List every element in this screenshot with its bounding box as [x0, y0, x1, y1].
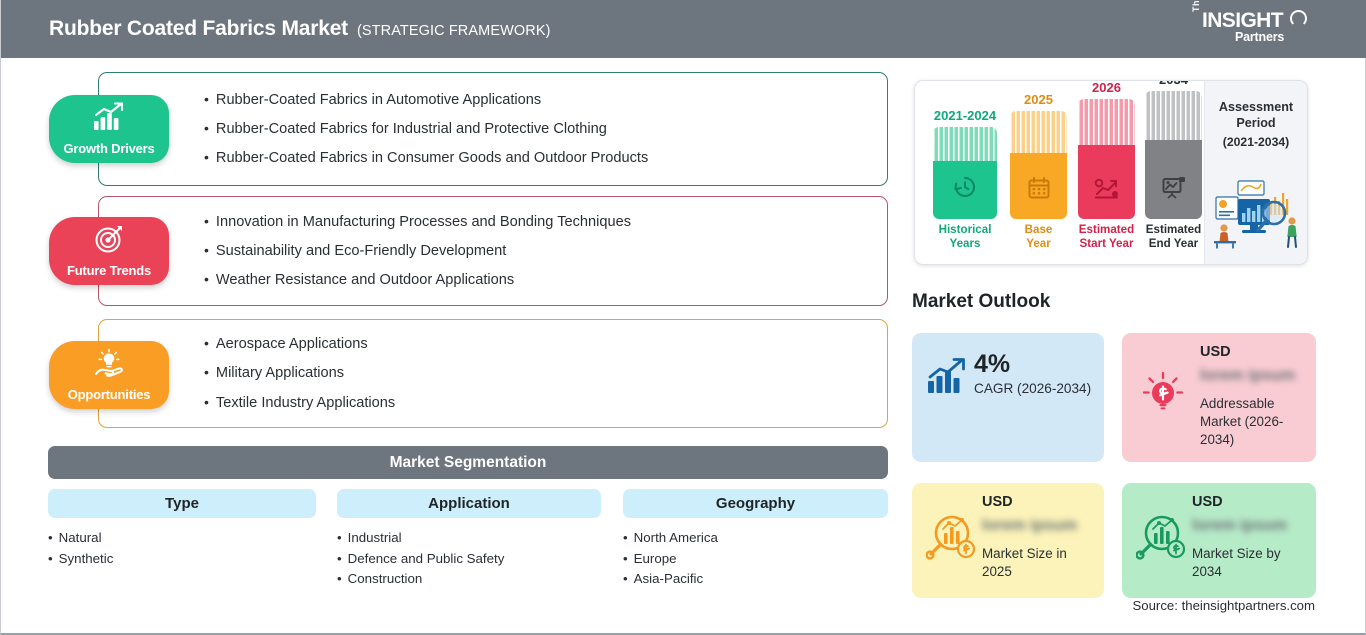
blurred-value: lorem ipsum — [982, 517, 1077, 535]
timeline-bar-striped-top — [1010, 111, 1067, 153]
hand-lightbulb-icon — [92, 348, 126, 383]
outlook-card-addressable-market: USD lorem ipsum Addressable Market (2026… — [1122, 333, 1316, 462]
outlook-card-market-size-2034: USD lorem ipsum Market Size by 2034 — [1122, 483, 1316, 598]
bullet-item: Weather Resistance and Outdoor Applicati… — [204, 272, 631, 288]
badge-label: Opportunities — [68, 387, 151, 402]
business-analytics-illustration — [1208, 173, 1305, 256]
segmentation-item-list: Industrial Defence and Public Safety Con… — [337, 528, 601, 590]
timeline-caption-line2: Year — [1026, 237, 1051, 250]
page-title: Rubber Coated Fabrics Market — [49, 17, 348, 41]
infographic-page: Rubber Coated Fabrics Market (STRATEGIC … — [0, 0, 1366, 635]
segmentation-column-title: Type — [165, 495, 199, 512]
badge-label: Future Trends — [67, 263, 151, 278]
currency-label: USD — [1200, 344, 1231, 360]
assessment-period-panel: Assessment Period (2021-2034) — [1204, 81, 1307, 264]
growth-bar-chart-icon — [926, 357, 968, 400]
timeline-caption-line1: Base — [1025, 223, 1053, 236]
segmentation-pill[interactable]: Application — [337, 489, 601, 518]
currency-label: USD — [1192, 494, 1223, 510]
timeline-bar-striped-top — [1145, 91, 1202, 140]
segmentation-item: Natural — [48, 528, 316, 549]
card-description: Market Size by 2034 — [1192, 545, 1304, 581]
blurred-value: lorem ipsum — [1200, 367, 1295, 385]
source-attribution: Source: theinsightpartners.com — [1132, 598, 1315, 613]
badge-future-trends[interactable]: Future Trends — [49, 217, 169, 285]
header-title-group: Rubber Coated Fabrics Market (STRATEGIC … — [49, 17, 551, 41]
bullet-item: Rubber-Coated Fabrics in Consumer Goods … — [204, 150, 648, 166]
insight-partners-logo: The INSIGHT Partners — [1191, 9, 1311, 51]
page-header: Rubber Coated Fabrics Market (STRATEGIC … — [1, 0, 1366, 58]
timeline-caption: Estimated End Year — [1146, 223, 1201, 250]
card-description: Market Size in 2025 — [982, 545, 1092, 581]
segmentation-item: Industrial — [337, 528, 601, 549]
panel-growth-drivers: Rubber-Coated Fabrics in Automotive Appl… — [98, 72, 888, 186]
bullet-item: Innovation in Manufacturing Processes an… — [204, 214, 631, 230]
segmentation-item: Synthetic — [48, 549, 316, 570]
bullet-item: Rubber-Coated Fabrics in Automotive Appl… — [204, 92, 648, 108]
segmentation-column-title: Geography — [716, 495, 795, 512]
timeline-bar — [1145, 91, 1202, 219]
bullet-item: Rubber-Coated Fabrics for Industrial and… — [204, 121, 648, 137]
cagr-description: CAGR (2026-2034) — [974, 381, 1091, 396]
timeline-bar-striped-top — [933, 127, 997, 161]
market-outlook-title: Market Outlook — [912, 291, 1050, 313]
magnifier-chart-dollar-icon — [1136, 511, 1190, 570]
timeline-caption-line1: Historical — [939, 223, 992, 236]
timeline-caption-line2: End Year — [1149, 237, 1198, 250]
timeline-caption-line2: Years — [950, 237, 981, 250]
outlook-card-market-size-2025: USD lorem ipsum Market Size in 2025 — [912, 483, 1104, 598]
forecast-chart-icon — [1094, 176, 1120, 205]
segmentation-pill[interactable]: Type — [48, 489, 316, 518]
badge-opportunities[interactable]: Opportunities — [49, 341, 169, 409]
bar-chart-arrow-icon — [92, 102, 126, 137]
panel-bullet-list: Aerospace Applications Military Applicat… — [204, 320, 395, 427]
panel-bullet-list: Rubber-Coated Fabrics in Automotive Appl… — [204, 73, 648, 185]
timeline-bar — [933, 127, 997, 219]
segmentation-item: Construction — [337, 569, 601, 590]
badge-growth-drivers[interactable]: Growth Drivers — [49, 95, 169, 163]
timeline-year-label: 2026 — [1092, 80, 1121, 95]
currency-label: USD — [982, 494, 1013, 510]
timeline-caption-line1: Estimated — [1079, 223, 1134, 236]
logo-partners-text: Partners — [1235, 30, 1284, 44]
bullet-item: Aerospace Applications — [204, 336, 395, 352]
assessment-period-line3: (2021-2034) — [1205, 135, 1307, 149]
segmentation-item: Europe — [623, 549, 888, 570]
segmentation-item: Defence and Public Safety — [337, 549, 601, 570]
segmentation-item-list: North America Europe Asia-Pacific — [623, 528, 888, 590]
magnifier-chart-dollar-icon — [926, 511, 980, 570]
badge-label: Growth Drivers — [63, 141, 154, 156]
blurred-value: lorem ipsum — [1192, 517, 1287, 535]
timeline-caption-line1: Estimated — [1146, 223, 1201, 236]
timeline-year-label: 2021-2024 — [934, 108, 996, 123]
assessment-period-line2: Period — [1205, 116, 1307, 130]
logo-the-text: The — [1191, 0, 1201, 12]
timeline-caption: Base Year — [1025, 223, 1053, 250]
bullet-item: Textile Industry Applications — [204, 395, 395, 411]
timeline-year-label: 2025 — [1024, 92, 1053, 107]
timeline-year-label: 2034 — [1159, 80, 1188, 87]
segmentation-pill[interactable]: Geography — [623, 489, 888, 518]
page-subtitle: (STRATEGIC FRAMEWORK) — [357, 23, 551, 39]
segmentation-item: Asia-Pacific — [623, 569, 888, 590]
clock-history-icon — [952, 174, 978, 205]
logo-ring-icon — [1290, 10, 1307, 27]
segmentation-item: North America — [623, 528, 888, 549]
timeline-caption: Estimated Start Year — [1079, 223, 1134, 250]
outlook-card-cagr: 4% CAGR (2026-2034) — [912, 333, 1104, 462]
panel-bullet-list: Innovation in Manufacturing Processes an… — [204, 197, 631, 305]
segmentation-column-type: Type Natural Synthetic — [48, 489, 316, 569]
lightbulb-dollar-icon — [1140, 369, 1186, 420]
panel-opportunities: Aerospace Applications Military Applicat… — [98, 319, 888, 428]
assessment-timeline-card: 2021-2024 Historical Years 2025 — [914, 80, 1308, 265]
timeline-caption-line2: Start Year — [1080, 237, 1134, 250]
segmentation-column-title: Application — [428, 495, 510, 512]
segmentation-column-application: Application Industrial Defence and Publi… — [337, 489, 601, 590]
card-description: Addressable Market (2026-2034) — [1200, 395, 1306, 449]
bullet-item: Sustainability and Eco-Friendly Developm… — [204, 243, 631, 259]
segmentation-item-list: Natural Synthetic — [48, 528, 316, 569]
calendar-icon — [1027, 176, 1051, 205]
panel-future-trends: Innovation in Manufacturing Processes an… — [98, 196, 888, 306]
market-segmentation-title: Market Segmentation — [390, 454, 547, 472]
target-dart-icon — [93, 224, 125, 259]
bullet-item: Military Applications — [204, 365, 395, 381]
presentation-screen-icon — [1161, 176, 1187, 205]
timeline-bar — [1010, 111, 1067, 219]
cagr-value: 4% — [974, 350, 1010, 379]
market-segmentation-header: Market Segmentation — [48, 446, 888, 479]
segmentation-column-geography: Geography North America Europe Asia-Paci… — [623, 489, 888, 590]
assessment-period-line1: Assessment — [1205, 100, 1307, 114]
timeline-bar-striped-top — [1078, 99, 1135, 145]
timeline-caption: Historical Years — [939, 223, 992, 250]
timeline-bar — [1078, 99, 1135, 219]
